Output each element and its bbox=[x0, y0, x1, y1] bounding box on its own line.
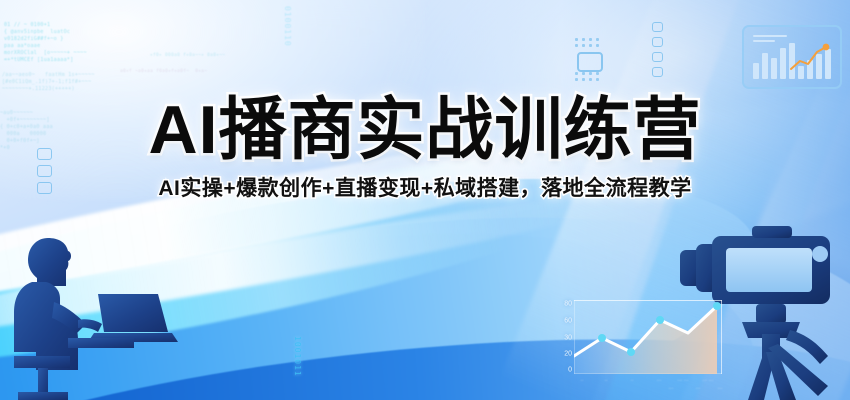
bar-chart-badge-icon bbox=[742, 25, 842, 89]
promo-banner: 01 // ~ 0100+1 { @anv5inpbe luatOc v0182… bbox=[0, 0, 850, 400]
y-tick-label: 80 bbox=[564, 301, 572, 308]
x-tick-label: ·· bbox=[604, 378, 607, 384]
x-tick-label: ··· bbox=[696, 386, 701, 392]
x-tick-label: ·· bbox=[580, 378, 583, 384]
decor-module-box bbox=[577, 52, 603, 72]
x-tick-label: ·· bbox=[630, 378, 633, 384]
badge-trend-line-icon bbox=[744, 27, 840, 87]
decor-dot-grid-bottom bbox=[575, 72, 600, 81]
y-tick-label: 0 bbox=[568, 367, 572, 374]
decor-code-text-1: 01 // ~ 0100+1 { @anv5inpbe luatOc v0182… bbox=[4, 22, 87, 64]
page-subtitle: AI实操+爆款创作+直播变现+私域搭建，落地全流程教学 bbox=[0, 178, 850, 199]
decor-dot-grid-top bbox=[575, 38, 600, 47]
decor-code-text-4: +f0+ 000a0 f+0a~~+ 0a0+~~ bbox=[150, 52, 225, 59]
decor-code-text-5: a0+f ~a0+aa f0a0+f+a0f~ 0+a~ bbox=[120, 68, 207, 75]
y-tick-label: 20 bbox=[564, 351, 572, 358]
x-tick-label: ··· bbox=[657, 378, 662, 384]
decor-binary-column: 1001011 bbox=[293, 336, 302, 377]
x-tick-label: ··· bbox=[669, 386, 674, 392]
chip-icon bbox=[652, 52, 663, 62]
decor-code-text-2: /aa~~aeo0~ faatHm 1s+~~~~~ [#e0C1iQm_.1f… bbox=[2, 72, 95, 93]
mini-line-chart: 80 60 30 20 0 bbox=[552, 298, 724, 394]
page-title: AI播商实战训练营 bbox=[0, 96, 850, 164]
x-tick-label: ··· ··· bbox=[702, 378, 713, 384]
chart-y-axis: 80 60 30 20 0 bbox=[552, 298, 572, 372]
headline-group: AI播商实战训练营 AI实操+爆款创作+直播变现+私域搭建，落地全流程教学 bbox=[0, 96, 850, 199]
person-with-laptop-icon bbox=[6, 220, 186, 400]
x-tick-label: ··· bbox=[718, 386, 723, 392]
x-tick-label: ··· ··· bbox=[677, 378, 688, 384]
chart-plot-area bbox=[574, 300, 722, 374]
decor-binary-column-top: 0100110 bbox=[283, 6, 292, 47]
chip-icon bbox=[652, 37, 663, 47]
chip-icon bbox=[652, 67, 663, 77]
y-tick-label: 30 bbox=[564, 335, 572, 342]
y-tick-label: 60 bbox=[564, 318, 572, 325]
chip-icon bbox=[652, 22, 663, 32]
decor-chip-column-right bbox=[652, 22, 663, 77]
